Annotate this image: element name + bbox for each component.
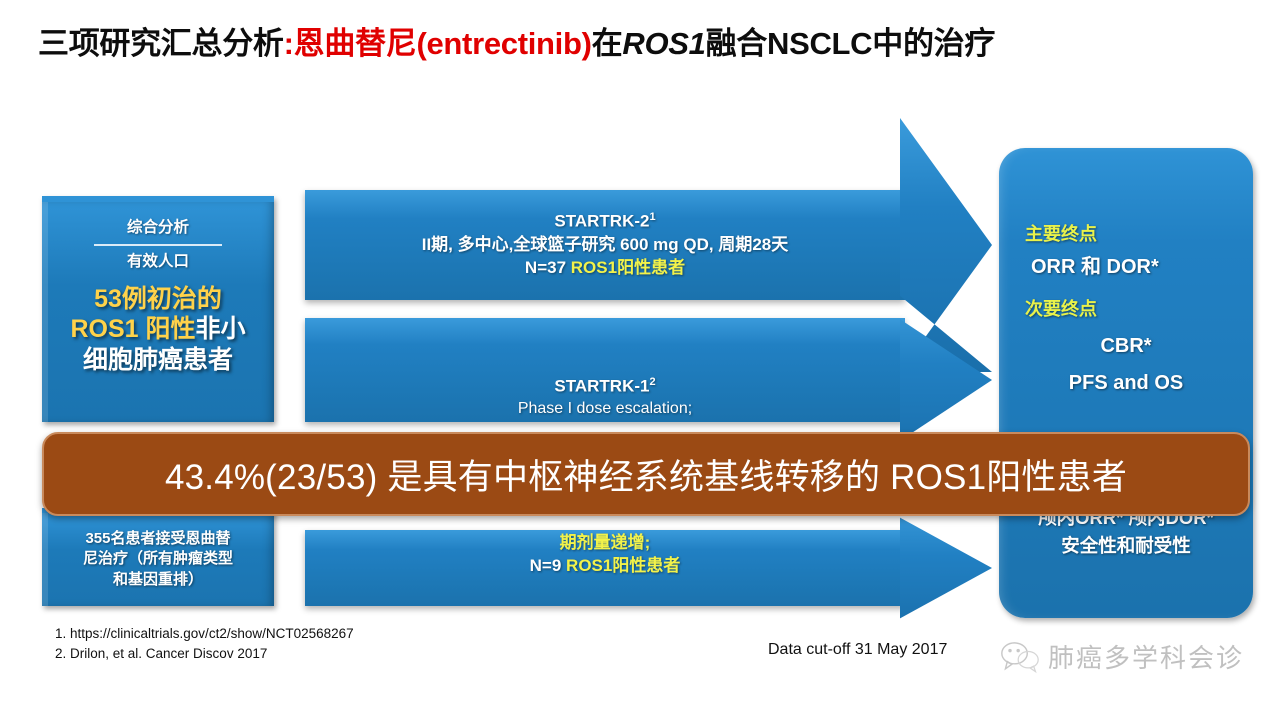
title-part1: 三项研究汇总分析 [38,26,284,61]
arrow-startrk-1-line2: Phase I dose escalation; [518,398,692,420]
arrow-alka-body: 期剂量递增; N=9 ROS1阳性患者 [305,530,905,606]
secondary-endpoint-label: 次要终点 [1025,295,1243,321]
wechat-icon [1000,640,1040,674]
arrow-startrk-1-line1: STARTRK-12 [554,375,655,399]
title-part2-post: 融合NSCLC中的治疗 [706,26,995,61]
arrow-alka-head [900,505,992,631]
population-headline: 53例初治的 ROS1 阳性非小 细胞肺癌患者 [42,284,274,376]
population-sub2: 有效人口 [42,250,274,273]
population-headline-line2-yellow: ROS1 阳性 [70,315,195,343]
arrow-startrk-1: STARTRK-12 Phase I dose escalation; [305,318,905,422]
arrow-startrk-2-line3: N=37 ROS1阳性患者 [525,257,685,280]
population-headline-line1-text: 53例初治的 [94,285,222,313]
title-drug: 恩曲替尼(entrectinib) [294,26,592,61]
population-headline-line3: 细胞肺癌患者 [42,345,274,376]
arrow-startrk-1-ref: 2 [649,376,655,388]
arrow-startrk-1-body: STARTRK-12 Phase I dose escalation; [305,318,905,422]
title-gene: ROS1 [622,26,705,61]
treated-patients-box: 355名患者接受恩曲替 尼治疗（所有肿瘤类型 和基因重排） [42,508,274,606]
cns-metastases-banner-text: 43.4%(23/53) 是具有中枢神经系统基线转移的 ROS1阳性患者 [165,449,1127,500]
primary-endpoint-label: 主要终点 [1025,220,1243,246]
arrow-startrk-2-ref: 1 [649,211,655,223]
data-cutoff-label: Data cut-off 31 May 2017 [768,641,947,659]
arrow-startrk-2-n: N=37 [525,258,566,277]
footnotes: 1. https://clinicaltrials.gov/ct2/show/N… [55,624,354,665]
treated-patients-line2: 尼治疗（所有肿瘤类型 [83,549,233,569]
arrow-alka-n: N=9 [530,556,562,575]
slide-root: 三项研究汇总分析:恩曲替尼(entrectinib)在ROS1融合NSCLC中的… [0,0,1280,720]
secondary-endpoint-value-cbr: CBR* [1009,335,1243,358]
population-headline-line1: 53例初治的 [42,284,274,315]
arrow-startrk-2-line1: STARTRK-21 [554,210,655,234]
arrow-alka-line3: N=9 ROS1阳性患者 [530,555,681,578]
footnote-2: 2. Drilon, et al. Cancer Discov 2017 [55,644,354,664]
footnote-1: 1. https://clinicaltrials.gov/ct2/show/N… [55,624,354,644]
arrow-startrk-2-body: STARTRK-21 II期, 多中心,全球篮子研究 600 mg QD, 周期… [305,190,905,300]
page-title: 三项研究汇总分析:恩曲替尼(entrectinib)在ROS1融合NSCLC中的… [38,26,1253,62]
treated-patients-line1: 355名患者接受恩曲替 [83,529,233,549]
arrow-alka-pop: ROS1阳性患者 [566,556,680,575]
watermark: 肺癌多学科会诊 [1000,638,1244,675]
title-part2-pre: 在 [592,26,623,61]
title-colon: : [284,26,294,61]
arrow-alka-line2: 期剂量递增; [560,532,651,555]
treated-patients-text: 355名患者接受恩曲替 尼治疗（所有肿瘤类型 和基因重排） [77,529,239,590]
watermark-text: 肺癌多学科会诊 [1048,638,1244,675]
population-headline-line2: ROS1 阳性非小 [42,314,274,345]
arrow-alka: 期剂量递增; N=9 ROS1阳性患者 [305,530,905,606]
arrow-startrk-2-pop: ROS1阳性患者 [571,258,685,277]
treated-patients-line3: 和基因重排） [83,570,233,590]
endpoints-panel: 主要终点 ORR 和 DOR* 次要终点 CBR* PFS and OS 颅内O… [999,148,1253,618]
primary-endpoint-value: ORR 和 DOR* [1031,250,1243,279]
arrow-startrk-2-name: STARTRK-2 [554,212,649,231]
arrow-startrk-2: STARTRK-21 II期, 多中心,全球篮子研究 600 mg QD, 周期… [305,190,905,300]
population-headline-line2-white: 非小 [196,315,246,343]
safety-endpoint: 安全性和耐受性 [1005,532,1247,560]
secondary-endpoint-value-pfsos: PFS and OS [1009,372,1243,395]
population-sub1: 综合分析 [42,216,274,239]
arrow-startrk-2-line2: II期, 多中心,全球篮子研究 600 mg QD, 周期28天 [422,234,789,257]
population-divider [94,244,222,246]
arrow-startrk-1-name: STARTRK-1 [554,376,649,395]
endpoints-top: 主要终点 ORR 和 DOR* 次要终点 CBR* PFS and OS [999,220,1253,395]
cns-metastases-banner: 43.4%(23/53) 是具有中枢神经系统基线转移的 ROS1阳性患者 [42,432,1250,516]
population-panel: 综合分析 有效人口 53例初治的 ROS1 阳性非小 细胞肺癌患者 [42,196,274,422]
